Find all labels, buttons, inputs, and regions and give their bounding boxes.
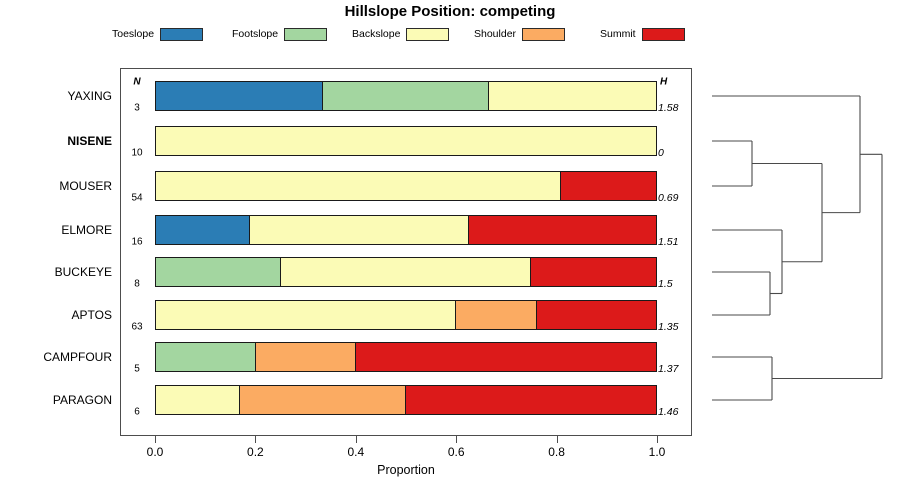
bar-segment-footslope <box>156 343 256 371</box>
n-value-nisene: 10 <box>124 148 150 159</box>
bar-segment-summit <box>561 172 656 200</box>
n-value-aptos: 63 <box>124 322 150 333</box>
bar-segment-footslope <box>156 258 281 286</box>
legend-item-toeslope: Toeslope <box>112 26 203 42</box>
x-tick-label: 0.2 <box>247 445 264 459</box>
bar-segment-backslope <box>250 216 469 244</box>
bar-segment-summit <box>406 386 656 414</box>
row-label-elmore: ELMORE <box>0 223 112 237</box>
x-axis: 0.00.20.40.60.81.0 <box>120 436 692 444</box>
x-tick <box>155 436 156 443</box>
stacked-bar-aptos <box>155 300 657 330</box>
h-value-mouser: 0.69 <box>658 192 694 204</box>
bar-segment-summit <box>531 258 656 286</box>
n-value-yaxing: 3 <box>124 103 150 114</box>
stacked-bar-paragon <box>155 385 657 415</box>
h-value-elmore: 1.51 <box>658 236 694 248</box>
row-label-campfour: CAMPFOUR <box>0 350 112 364</box>
bar-segment-summit <box>356 343 656 371</box>
row-label-paragon: PARAGON <box>0 393 112 407</box>
row-label-nisene: NISENE <box>0 134 112 148</box>
stacked-bar-nisene <box>155 126 657 156</box>
legend-swatch-summit <box>642 28 685 41</box>
legend-label: Toeslope <box>112 26 154 42</box>
legend-label: Summit <box>600 26 636 42</box>
x-tick <box>657 436 658 443</box>
legend: ToeslopeFootslopeBackslopeShoulderSummit <box>0 26 900 44</box>
legend-swatch-shoulder <box>522 28 565 41</box>
x-axis-label: Proportion <box>120 463 692 477</box>
n-column-header: N <box>124 77 150 88</box>
x-tick <box>356 436 357 443</box>
bar-segment-shoulder <box>256 343 356 371</box>
h-value-paragon: 1.46 <box>658 406 694 418</box>
legend-item-footslope: Footslope <box>232 26 327 42</box>
bar-segment-backslope <box>156 172 561 200</box>
h-value-yaxing: 1.58 <box>658 102 694 114</box>
bar-segment-summit <box>469 216 657 244</box>
legend-item-backslope: Backslope <box>352 26 449 42</box>
stacked-bar-mouser <box>155 171 657 201</box>
chart-canvas: Hillslope Position: competing ToeslopeFo… <box>0 0 900 500</box>
bar-segment-backslope <box>281 258 531 286</box>
row-label-aptos: APTOS <box>0 308 112 322</box>
row-label-mouser: MOUSER <box>0 179 112 193</box>
stacked-bar-yaxing <box>155 81 657 111</box>
legend-item-summit: Summit <box>600 26 685 42</box>
bar-segment-summit <box>537 301 656 329</box>
legend-label: Shoulder <box>474 26 516 42</box>
x-tick-label: 0.6 <box>448 445 465 459</box>
x-tick <box>456 436 457 443</box>
legend-swatch-footslope <box>284 28 327 41</box>
bar-segment-toeslope <box>156 82 323 110</box>
n-value-buckeye: 8 <box>124 279 150 290</box>
bar-segment-backslope <box>156 301 456 329</box>
x-tick <box>557 436 558 443</box>
legend-label: Footslope <box>232 26 278 42</box>
plot-frame <box>120 68 692 436</box>
bar-segment-shoulder <box>456 301 537 329</box>
bar-segment-footslope <box>323 82 490 110</box>
legend-swatch-backslope <box>406 28 449 41</box>
h-value-campfour: 1.37 <box>658 363 694 375</box>
stacked-bar-elmore <box>155 215 657 245</box>
h-column-header: H <box>660 77 667 88</box>
n-value-mouser: 54 <box>124 193 150 204</box>
x-tick-label: 1.0 <box>649 445 666 459</box>
stacked-bar-campfour <box>155 342 657 372</box>
legend-label: Backslope <box>352 26 400 42</box>
bar-segment-toeslope <box>156 216 250 244</box>
h-value-buckeye: 1.5 <box>658 278 694 290</box>
x-tick-label: 0.8 <box>548 445 565 459</box>
bar-segment-shoulder <box>240 386 407 414</box>
chart-title: Hillslope Position: competing <box>0 3 900 20</box>
h-value-aptos: 1.35 <box>658 321 694 333</box>
n-value-elmore: 16 <box>124 237 150 248</box>
legend-item-shoulder: Shoulder <box>474 26 565 42</box>
row-label-yaxing: YAXING <box>0 89 112 103</box>
stacked-bar-buckeye <box>155 257 657 287</box>
bar-segment-backslope <box>489 82 656 110</box>
legend-swatch-toeslope <box>160 28 203 41</box>
n-value-paragon: 6 <box>124 407 150 418</box>
x-tick <box>255 436 256 443</box>
bar-segment-backslope <box>156 127 656 155</box>
x-tick-label: 0.0 <box>147 445 164 459</box>
dendrogram <box>700 68 900 436</box>
row-label-buckeye: BUCKEYE <box>0 265 112 279</box>
x-tick-label: 0.4 <box>347 445 364 459</box>
n-value-campfour: 5 <box>124 364 150 375</box>
bar-segment-backslope <box>156 386 240 414</box>
h-value-nisene: 0 <box>658 147 694 159</box>
